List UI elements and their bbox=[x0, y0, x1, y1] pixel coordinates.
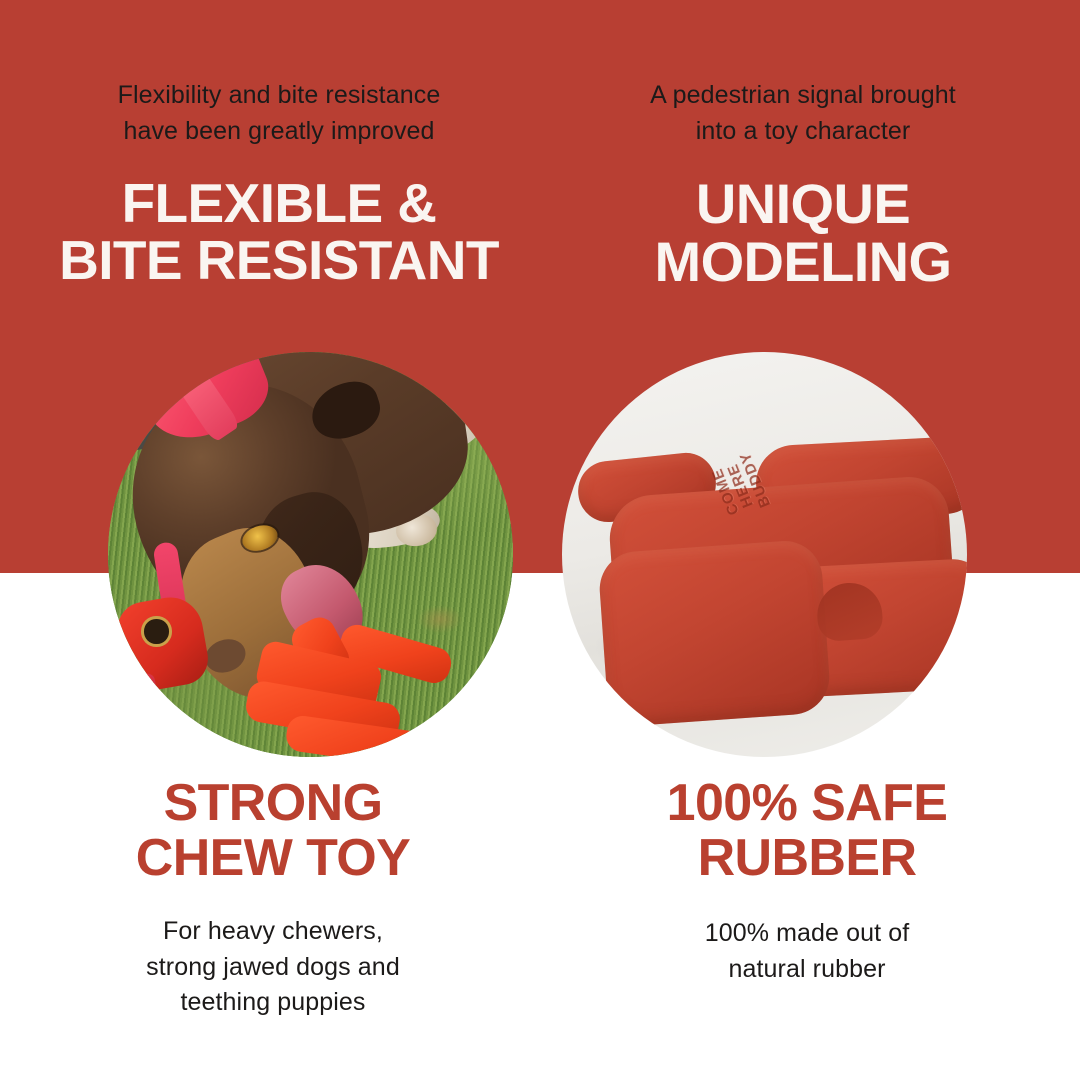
feature-subtext-flexibility: Flexibility and bite resistance have bee… bbox=[114, 78, 444, 149]
feature-block-flexible-bite-resistant: Flexibility and bite resistance have bee… bbox=[0, 0, 540, 360]
feature-title-strong-chew-toy: STRONG CHEW TOY bbox=[136, 776, 410, 886]
toy-left-leg bbox=[597, 539, 831, 728]
feature-title-100-percent-safe-rubber: 100% SAFE RUBBER bbox=[667, 776, 948, 886]
feature-subtext-pedestrian-signal: A pedestrian signal brought into a toy c… bbox=[638, 78, 968, 149]
feature-caption-natural-rubber: 100% made out of natural rubber bbox=[705, 916, 910, 987]
poop-bag-holder-grommet bbox=[144, 619, 168, 643]
feature-block-safe-rubber: 100% SAFE RUBBER 100% made out of natura… bbox=[540, 776, 1080, 1076]
feature-caption-heavy-chewers: For heavy chewers, strong jawed dogs and… bbox=[146, 914, 400, 1021]
product-feature-infographic: Flexibility and bite resistance have bee… bbox=[0, 0, 1080, 1080]
top-feature-row: Flexibility and bite resistance have bee… bbox=[0, 0, 1080, 360]
feature-headline-unique-modeling: UNIQUE MODELING bbox=[655, 175, 952, 291]
bottom-feature-row: STRONG CHEW TOY For heavy chewers, stron… bbox=[0, 776, 1080, 1076]
feature-headline-flexible-bite-resistant: FLEXIBLE & BITE RESISTANT bbox=[59, 175, 499, 289]
dog-photo-scene bbox=[108, 352, 513, 757]
dog-chewing-toy-photo bbox=[108, 352, 513, 757]
feature-block-strong-chew-toy: STRONG CHEW TOY For heavy chewers, stron… bbox=[0, 776, 540, 1076]
rubber-toy-scene: COME HERE BUDDY bbox=[562, 352, 967, 757]
rubber-toy-closeup-photo: COME HERE BUDDY bbox=[562, 352, 967, 757]
pedestrian-figure-toy: COME HERE BUDDY bbox=[562, 352, 967, 757]
feature-block-unique-modeling: A pedestrian signal brought into a toy c… bbox=[540, 0, 1080, 360]
